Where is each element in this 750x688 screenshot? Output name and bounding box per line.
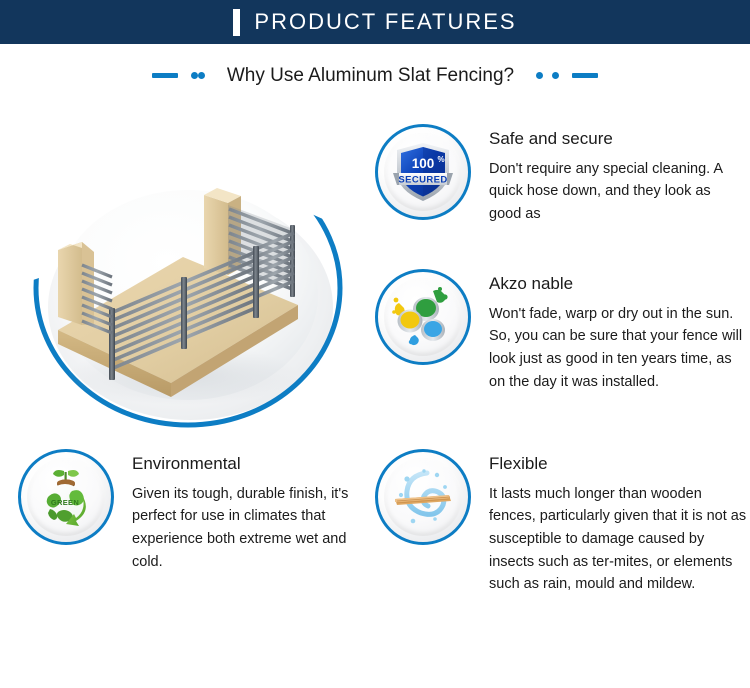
subtitle-decoration-left	[152, 72, 205, 79]
feature-title: Akzo nable	[489, 275, 744, 294]
feature-title: Environmental	[132, 455, 352, 474]
paint-cans-icon	[375, 269, 471, 365]
feature-body: Don't require any special cleaning. A qu…	[489, 158, 739, 226]
dot-icon	[191, 72, 198, 79]
shield-100-percent-secured-icon: 100 % SECURED	[375, 124, 471, 220]
feature-item-environmental: GREEN Environmental Given its tough, dur…	[18, 449, 370, 573]
product-hero-image	[8, 125, 368, 455]
svg-text:GREEN: GREEN	[51, 498, 79, 507]
hero-ring-icon	[8, 125, 368, 455]
water-splash-plank-icon	[375, 449, 471, 545]
feature-title: Flexible	[489, 455, 747, 474]
feature-body: Given its tough, durable finish, it's pe…	[132, 483, 352, 573]
title-accent-bar	[233, 9, 240, 36]
green-globe-sprout-icon: GREEN	[18, 449, 114, 545]
feature-title: Safe and secure	[489, 130, 739, 149]
page-title: PRODUCT FEATURES	[254, 11, 516, 33]
feature-body: Won't fade, warp or dry out in the sun. …	[489, 303, 744, 393]
dash-icon	[572, 73, 598, 78]
page-header: PRODUCT FEATURES	[0, 0, 750, 44]
dot-icon	[552, 72, 559, 79]
svg-text:%: %	[437, 155, 444, 164]
feature-item-safe-and-secure: 100 % SECURED Safe and secure Don't requ…	[375, 124, 745, 226]
feature-item-akzo-nable: Akzo nable Won't fade, warp or dry out i…	[375, 269, 745, 393]
dash-icon	[152, 73, 178, 78]
section-subtitle: Why Use Aluminum Slat Fencing?	[0, 44, 750, 106]
feature-item-flexible: Flexible It lasts much longer than woode…	[375, 449, 747, 596]
svg-text:SECURED: SECURED	[398, 175, 447, 186]
feature-body: It lasts much longer than wooden fences,…	[489, 483, 747, 596]
dot-icon	[536, 72, 543, 79]
subtitle-decoration-right	[536, 72, 598, 79]
svg-text:100: 100	[412, 156, 435, 171]
subtitle-text: Why Use Aluminum Slat Fencing?	[227, 66, 514, 85]
dot-icon	[198, 72, 205, 79]
